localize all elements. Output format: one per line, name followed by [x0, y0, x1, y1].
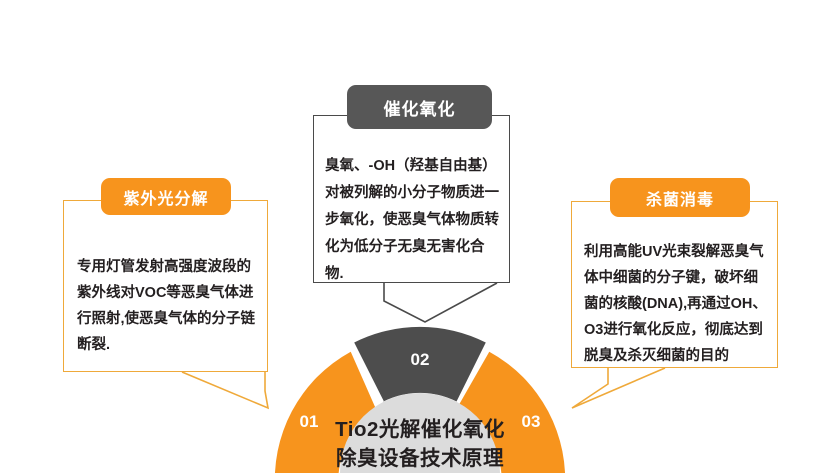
bubble-uv-description: 专用灯管发射高强度波段的紫外线对VOC等恶臭气体进行照射,使恶臭气体的分子链断裂…: [77, 254, 257, 358]
diagram-canvas: 专用灯管发射高强度波段的紫外线对VOC等恶臭气体进行照射,使恶臭气体的分子链断裂…: [0, 0, 840, 473]
bubble-uv-tail: [63, 368, 273, 416]
bubble-catalytic-description: 臭氧、-OH（羟基自由基）对被列解的小分子物质进一步氧化，使恶臭气体物质转化为低…: [325, 153, 503, 288]
bubble-sterilization-description: 利用高能UV光束裂解恶臭气体中细菌的分子键，破坏细菌的核酸(DNA),再通过OH…: [584, 239, 769, 369]
bubble-uv-header: 紫外光分解: [101, 178, 231, 215]
bubble-sterilization: 利用高能UV光束裂解恶臭气体中细菌的分子键，破坏细菌的核酸(DNA),再通过OH…: [571, 201, 778, 368]
bubble-sterilization-tail: [565, 364, 775, 414]
bubble-catalytic-header: 催化氧化: [347, 85, 492, 129]
bubble-catalytic-oxidation: 臭氧、-OH（羟基自由基）对被列解的小分子物质进一步氧化，使恶臭气体物质转化为低…: [313, 115, 510, 283]
bubble-uv-photolysis: 专用灯管发射高强度波段的紫外线对VOC等恶臭气体进行照射,使恶臭气体的分子链断裂…: [63, 200, 268, 372]
donut-title-line-1: Tio2光解催化氧化: [273, 415, 567, 444]
donut-title-line-2: 除臭设备技术原理: [273, 444, 567, 473]
donut-title: Tio2光解催化氧化 除臭设备技术原理: [273, 415, 567, 473]
bubble-sterilization-header: 杀菌消毒: [610, 178, 750, 217]
donut-label-02: 02: [411, 350, 430, 369]
